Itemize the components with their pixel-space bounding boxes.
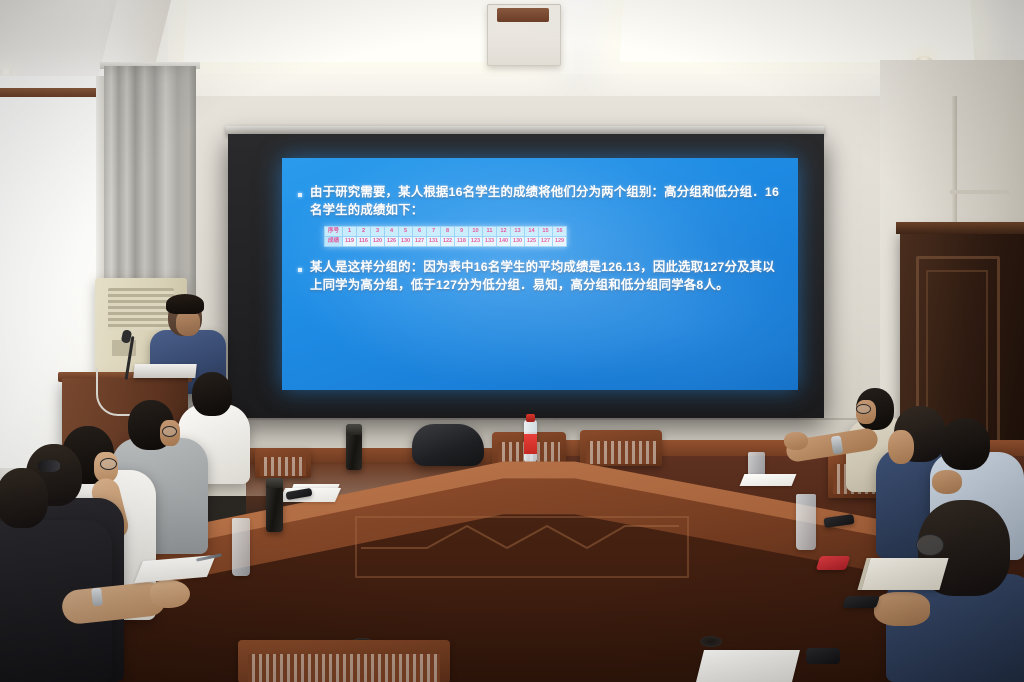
downlight-6 [0,68,12,76]
laptop[interactable] [133,364,196,378]
attendee-right-3-head [940,418,990,470]
chair-foreground[interactable] [238,640,450,682]
table-header-row: 序号 1 2 3 4 5 6 7 8 9 10 11 12 13 [325,227,567,237]
glasses-icon-left-4 [162,426,177,437]
bullet-square-icon [298,193,302,197]
paper-sheet-6[interactable] [696,650,800,682]
microphone-cable [96,368,132,416]
projector-lens [497,8,549,22]
red-phone-case[interactable] [816,556,851,570]
presenter-hair [166,294,204,314]
smartphone-right-2[interactable] [842,596,880,608]
slide-bullet-1-text: 由于研究需要，某人根据16名学生的成绩将他们分为两个组别：高分组和低分组．16名… [310,184,780,219]
table-row-label-score: 成绩 [325,237,343,247]
conference-room-photo: 由于研究需要，某人根据16名学生的成绩将他们分为两个组别：高分组和低分组．16名… [0,0,1024,682]
attendee-left-1-hand [150,580,190,608]
glasses-icon-right-4 [916,534,944,556]
glasses-icon-left-3 [100,458,117,470]
attendee-right-4-hand [874,592,930,626]
projected-slide: 由于研究需要，某人根据16名学生的成绩将他们分为两个组别：高分组和低分组．16名… [282,158,798,390]
sunglasses-icon [38,460,60,472]
slide-bullet-1: 由于研究需要，某人根据16名学生的成绩将他们分为两个组别：高分组和低分组．16名… [298,184,780,219]
pointing-hand [784,432,808,450]
attendee-right-2-hand [888,430,914,464]
slide-score-table: 序号 1 2 3 4 5 6 7 8 9 10 11 12 13 [324,226,780,247]
paper-sheet-5[interactable] [740,474,797,486]
wall-conduit-branch [950,190,1010,194]
wall-trim-line [200,418,900,420]
table-chevron-molding [355,516,689,578]
ceiling-light-panel-left [184,0,539,62]
attendee-right-3-hand [932,470,962,494]
table-row-label-index: 序号 [325,227,343,237]
table-score-row: 成绩 119 116 120 126 130 127 131 122 118 1… [325,237,567,247]
remote-control[interactable] [806,648,840,664]
glass-right[interactable] [796,494,816,550]
bracelet [91,588,103,607]
attendee-left-5-head [192,372,232,416]
glasses-icon-right-1 [856,404,871,414]
door-header-trim [896,222,1024,234]
attendee-left-1-head [0,468,48,528]
bullet-square-icon-2 [298,268,302,272]
slide-bullet-2-text: 某人是这样分组的：因为表中16名学生的平均成绩是126.13，因此选取127分及… [310,259,780,294]
ceiling-light-panel-right [620,0,975,62]
glass-left[interactable] [232,518,250,576]
slide-bullet-2: 某人是这样分组的：因为表中16名学生的平均成绩是126.13，因此选取127分及… [298,259,780,294]
cable-grommet-2[interactable] [700,636,722,647]
thermos-left[interactable] [266,478,283,532]
notebook[interactable] [857,558,948,590]
ac-grille [108,288,174,330]
